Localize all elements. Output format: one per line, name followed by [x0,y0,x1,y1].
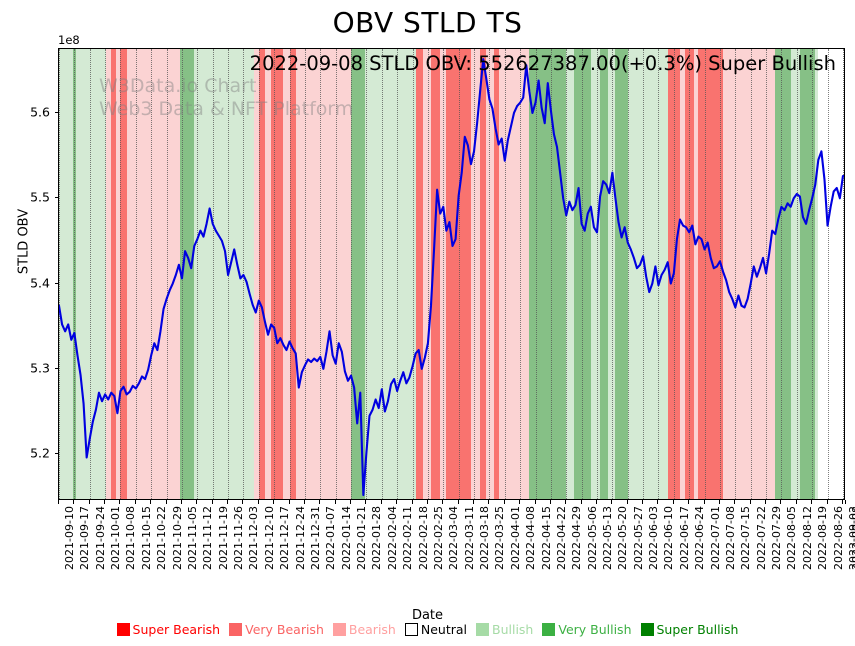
x-tick-mark [719,500,720,504]
x-tick-mark [473,500,474,504]
legend-item[interactable]: Neutral [405,622,467,637]
x-tick-label: 2022-08-05 [785,506,798,570]
x-tick-label: 2022-07-29 [770,506,783,570]
x-tick-mark [73,500,74,504]
x-tick-mark [611,500,612,504]
x-tick-label: 2022-06-24 [693,506,706,570]
x-axis-tick-labels: 2021-09-102021-09-172021-09-242021-10-01… [58,506,845,590]
x-tick-label: 2022-03-18 [478,506,491,570]
x-tick-label: 2021-11-05 [186,506,199,570]
legend-item[interactable]: Super Bearish [117,622,221,637]
x-tick-mark [150,500,151,504]
x-tick-mark [196,500,197,504]
x-tick-label: 2022-05-13 [601,506,614,570]
x-tick-mark [365,500,366,504]
x-tick-mark [442,500,443,504]
obv-line-path [59,59,845,495]
legend-item[interactable]: Bullish [476,622,533,637]
x-tick-label: 2022-02-04 [386,506,399,570]
x-tick-mark [304,500,305,504]
x-tick-mark [289,500,290,504]
legend-swatch [229,623,242,636]
x-tick-mark [427,500,428,504]
x-tick-mark [519,500,520,504]
x-tick-mark [734,500,735,504]
chart-legend[interactable]: Super BearishVery BearishBearishNeutralB… [0,622,855,637]
x-tick-mark [488,500,489,504]
x-tick-label: 2022-01-07 [324,506,337,570]
y-tick-label: 5.6 [8,104,50,119]
x-tick-mark [350,500,351,504]
x-tick-label: 2021-10-08 [124,506,137,570]
x-tick-label: 2021-12-03 [247,506,260,570]
legend-label: Bullish [492,622,533,637]
x-tick-label: 2021-11-19 [217,506,230,570]
x-tick-label: 2022-04-15 [540,506,553,570]
x-tick-mark [642,500,643,504]
x-tick-mark [811,500,812,504]
x-tick-mark [842,500,843,504]
x-tick-mark [381,500,382,504]
x-tick-mark [627,500,628,504]
x-tick-mark [780,500,781,504]
x-tick-mark [827,500,828,504]
x-tick-label: 2021-10-22 [155,506,168,570]
x-tick-mark [258,500,259,504]
x-tick-label: 2022-05-20 [616,506,629,570]
x-tick-label: 2022-04-29 [570,506,583,570]
legend-item[interactable]: Bearish [333,622,396,637]
x-tick-label: 2022-08-19 [816,506,829,570]
x-tick-mark [845,500,846,504]
x-tick-mark [550,500,551,504]
x-tick-mark [396,500,397,504]
x-tick-label: 2022-03-04 [447,506,460,570]
x-tick-mark [596,500,597,504]
x-tick-mark [166,500,167,504]
x-tick-mark [273,500,274,504]
x-tick-label: 2021-12-10 [263,506,276,570]
legend-swatch [542,623,555,636]
x-tick-label: 2022-05-27 [632,506,645,570]
x-tick-label: 2021-11-26 [232,506,245,570]
x-axis-label: Date [0,608,855,623]
x-tick-mark [181,500,182,504]
legend-swatch [641,623,654,636]
x-tick-mark [657,500,658,504]
x-tick-label: 2021-11-12 [201,506,214,570]
legend-swatch [476,623,489,636]
x-tick-label: 2022-09-08 [850,506,855,570]
x-tick-mark [119,500,120,504]
x-tick-label: 2022-06-10 [662,506,675,570]
x-tick-mark [104,500,105,504]
x-tick-label: 2022-05-06 [586,506,599,570]
x-tick-label: 2022-04-22 [555,506,568,570]
x-tick-label: 2021-10-01 [109,506,122,570]
latest-value-annotation: 2022-09-08 STLD OBV: 552627387.00(+0.3%)… [250,52,836,75]
x-tick-label: 2022-03-25 [493,506,506,570]
x-tick-mark [319,500,320,504]
x-tick-label: 2022-03-11 [463,506,476,570]
legend-label: Neutral [421,622,467,637]
legend-item[interactable]: Very Bearish [229,622,324,637]
x-tick-mark [58,500,59,504]
legend-label: Bearish [349,622,396,637]
y-axis-tick-labels: 5.25.35.45.55.6 [8,48,50,500]
x-tick-mark [242,500,243,504]
x-tick-label: 2022-06-17 [678,506,691,570]
x-tick-mark [504,500,505,504]
x-tick-label: 2021-12-17 [278,506,291,570]
x-tick-label: 2022-01-14 [340,506,353,570]
x-tick-mark [796,500,797,504]
x-tick-label: 2022-07-22 [755,506,768,570]
x-tick-label: 2021-09-24 [94,506,107,570]
legend-swatch [405,623,418,636]
y-axis-exponent-label: 1e8 [58,33,80,47]
chart-figure: OBV STLD TS 1e8 STLD OBV 5.25.35.45.55.6… [0,0,855,646]
y-tick-label: 5.5 [8,190,50,205]
x-tick-mark [535,500,536,504]
x-tick-label: 2022-01-28 [370,506,383,570]
y-tick-label: 5.3 [8,360,50,375]
x-tick-label: 2022-04-08 [524,506,537,570]
x-tick-label: 2021-12-31 [309,506,322,570]
x-tick-mark [227,500,228,504]
x-tick-mark [212,500,213,504]
x-tick-label: 2021-10-15 [140,506,153,570]
legend-swatch [333,623,346,636]
x-tick-mark [765,500,766,504]
x-tick-label: 2021-10-29 [171,506,184,570]
x-tick-mark [581,500,582,504]
x-tick-label: 2022-02-18 [417,506,430,570]
x-tick-label: 2021-09-17 [78,506,91,570]
x-tick-label: 2022-04-01 [509,506,522,570]
legend-label: Very Bearish [245,622,324,637]
x-tick-label: 2022-01-21 [355,506,368,570]
y-tick-label: 5.2 [8,446,50,461]
legend-item[interactable]: Very Bullish [542,622,631,637]
x-tick-mark [688,500,689,504]
plot-area[interactable]: W3Data.io Chart Web3 Data & NFT Platform… [58,48,845,500]
x-tick-label: 2022-07-15 [739,506,752,570]
x-tick-label: 2022-07-08 [724,506,737,570]
legend-label: Super Bullish [657,622,739,637]
x-tick-mark [750,500,751,504]
x-tick-mark [89,500,90,504]
x-tick-label: 2022-08-26 [832,506,845,570]
x-tick-label: 2022-02-25 [432,506,445,570]
x-tick-label: 2021-09-10 [63,506,76,570]
x-tick-label: 2022-02-11 [401,506,414,570]
x-tick-label: 2022-08-12 [801,506,814,570]
legend-label: Super Bearish [133,622,221,637]
obv-line-series [59,49,845,500]
legend-label: Very Bullish [558,622,631,637]
x-tick-mark [458,500,459,504]
x-tick-mark [335,500,336,504]
y-tick-label: 5.4 [8,275,50,290]
x-tick-mark [565,500,566,504]
x-tick-mark [135,500,136,504]
x-tick-mark [704,500,705,504]
chart-title: OBV STLD TS [0,6,855,39]
x-tick-mark [412,500,413,504]
legend-swatch [117,623,130,636]
x-tick-mark [673,500,674,504]
x-tick-label: 2022-07-01 [709,506,722,570]
x-tick-label: 2021-12-24 [294,506,307,570]
x-tick-label: 2022-06-03 [647,506,660,570]
legend-item[interactable]: Super Bullish [641,622,739,637]
x-axis-tick-marks [58,500,845,505]
